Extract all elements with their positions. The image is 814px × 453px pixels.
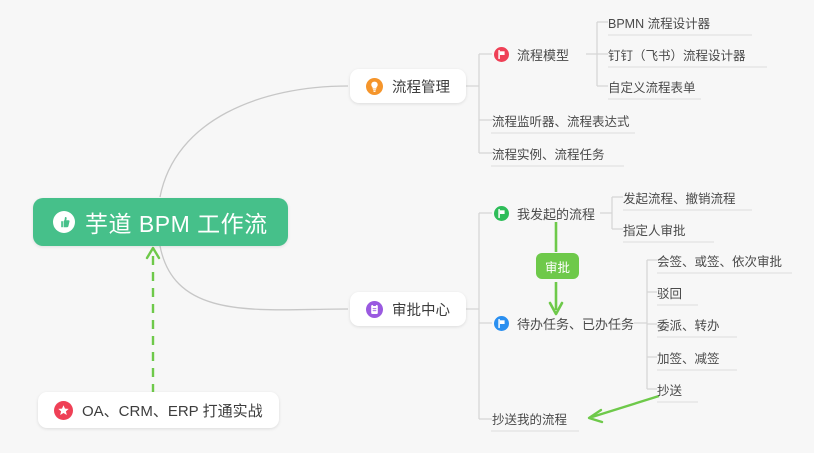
- leaf-node-cc-to-me[interactable]: 抄送我的流程: [486, 407, 573, 429]
- leaf-label: 会签、或签、依次审批: [657, 251, 782, 270]
- root-label: 芋道 BPM 工作流: [85, 205, 268, 239]
- leaf-node-bpmn-designer[interactable]: BPMN 流程设计器: [602, 11, 716, 33]
- arrowhead-cc-to-cc-my: [589, 410, 602, 422]
- leaf-node-custom-form[interactable]: 自定义流程表单: [602, 75, 702, 97]
- root-node[interactable]: 芋道 BPM 工作流: [33, 198, 288, 246]
- annotation-pill-label: 审批: [545, 257, 570, 276]
- leaf-label: 驳回: [657, 283, 682, 302]
- leaf-node-process-instance[interactable]: 流程实例、流程任务: [486, 142, 611, 164]
- sub-label-my-initiated: 我发起的流程: [517, 204, 595, 223]
- leaf-node-countersign[interactable]: 会签、或签、依次审批: [651, 249, 788, 271]
- sub-node-todo-done[interactable]: 待办任务、已办任务: [494, 313, 634, 333]
- leaf-label: 钉钉（飞书）流程设计器: [608, 45, 746, 64]
- wire-root-to-process-management: [160, 86, 348, 197]
- leaf-node-initiate-revoke[interactable]: 发起流程、撤销流程: [617, 186, 742, 208]
- sub-label-todo-done: 待办任务、已办任务: [517, 314, 634, 333]
- clipboard-icon: [366, 301, 383, 318]
- leaf-label: 抄送: [657, 380, 682, 399]
- leaf-label: 抄送我的流程: [492, 409, 567, 428]
- mindmap-canvas: 芋道 BPM 工作流 流程管理 流程模型 BPMN 流程设计器 钉钉（飞书）流程: [0, 0, 814, 453]
- leaf-label: 委派、转办: [657, 315, 720, 334]
- leaf-label: BPMN 流程设计器: [608, 13, 710, 32]
- arrow-cc-to-cc-my: [592, 396, 659, 417]
- sub-node-process-model[interactable]: 流程模型: [494, 44, 569, 64]
- arrowhead-callout-to-root: [147, 248, 159, 258]
- branch-label-process-management: 流程管理: [392, 76, 450, 97]
- leaf-node-cc[interactable]: 抄送: [651, 378, 688, 400]
- leaf-node-dingtalk-designer[interactable]: 钉钉（飞书）流程设计器: [602, 43, 752, 65]
- annotation-pill-approval: 审批: [536, 253, 579, 279]
- leaf-label: 自定义流程表单: [608, 77, 696, 96]
- callout-label: OA、CRM、ERP 打通实战: [82, 400, 263, 421]
- branch-node-approval-center[interactable]: 审批中心: [350, 292, 466, 326]
- callout-node-integration[interactable]: OA、CRM、ERP 打通实战: [38, 392, 279, 428]
- leaf-node-process-listener[interactable]: 流程监听器、流程表达式: [486, 109, 636, 131]
- flag-icon: [494, 206, 509, 221]
- sub-node-my-initiated[interactable]: 我发起的流程: [494, 203, 595, 223]
- leaf-label: 指定人审批: [623, 220, 686, 239]
- star-icon: [54, 401, 73, 420]
- leaf-label: 流程监听器、流程表达式: [492, 111, 630, 130]
- leaf-node-assignee-approval[interactable]: 指定人审批: [617, 218, 692, 240]
- flag-icon: [494, 316, 509, 331]
- lightbulb-icon: [366, 78, 383, 95]
- branch-label-approval-center: 审批中心: [392, 299, 450, 320]
- thumbs-up-icon: [53, 211, 75, 233]
- leaf-label: 发起流程、撤销流程: [623, 188, 736, 207]
- leaf-node-delegate-transfer[interactable]: 委派、转办: [651, 313, 726, 335]
- wire-root-to-approval-center: [160, 246, 348, 310]
- leaf-node-add-remove-sign[interactable]: 加签、减签: [651, 346, 726, 368]
- leaf-label: 流程实例、流程任务: [492, 144, 605, 163]
- leaf-node-reject[interactable]: 驳回: [651, 281, 688, 303]
- branch-node-process-management[interactable]: 流程管理: [350, 69, 466, 103]
- sub-label-process-model: 流程模型: [517, 45, 569, 64]
- flag-icon: [494, 47, 509, 62]
- leaf-label: 加签、减签: [657, 348, 720, 367]
